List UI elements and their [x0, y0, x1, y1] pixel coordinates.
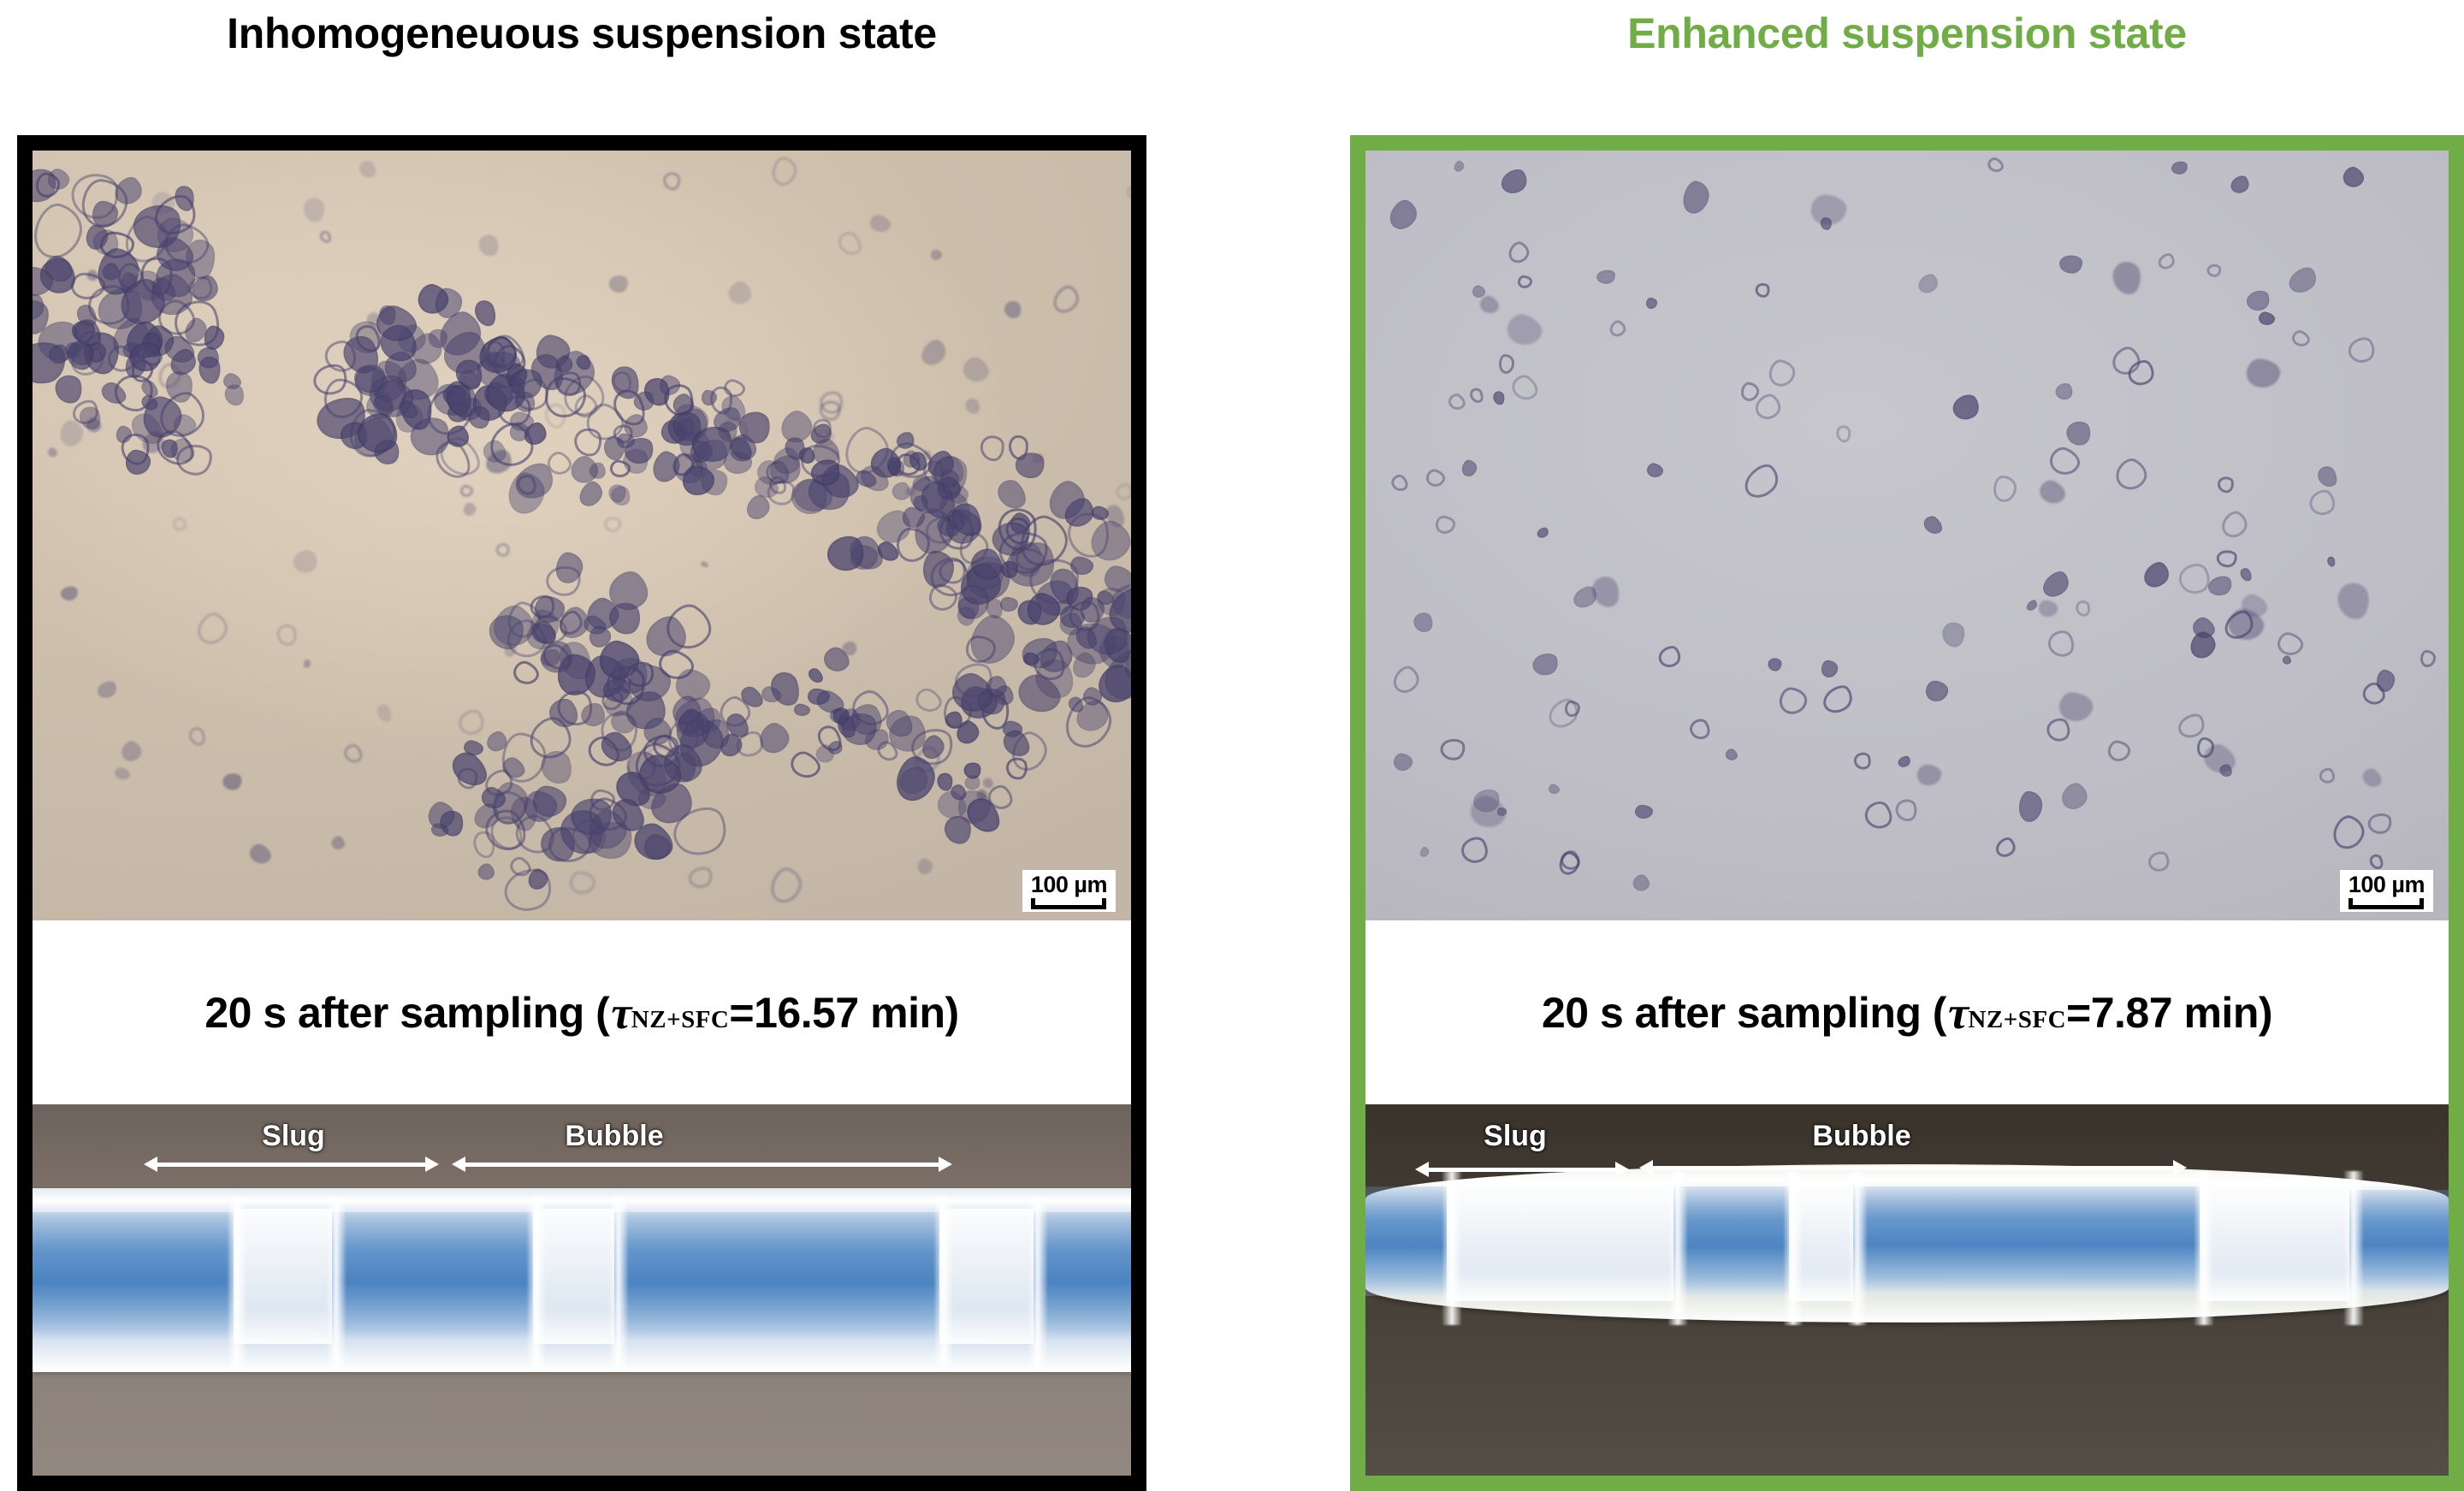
- crystal-particle: [930, 249, 943, 261]
- crystal-particle: [2073, 599, 2091, 618]
- crystal-particle: [2217, 550, 2238, 568]
- crystal-particle: [2359, 766, 2384, 791]
- crystal-particle: [2275, 630, 2306, 659]
- crystal-particle: [1410, 609, 1436, 636]
- crystal-particle: [1467, 386, 1486, 405]
- crystal-particle: [993, 475, 1032, 514]
- crystal-particle: [2238, 566, 2254, 583]
- crystal-particle: [2228, 173, 2253, 197]
- crystal-particle: [685, 864, 715, 892]
- crystal-particle: [2314, 463, 2341, 490]
- crystal-particle: [2046, 443, 2084, 478]
- crystal-particle: [1948, 391, 1984, 426]
- crystal-particle: [1635, 805, 1654, 819]
- crystal-particle: [2289, 328, 2313, 350]
- meniscus: [527, 1197, 546, 1368]
- crystal-particle: [1607, 318, 1628, 340]
- crystal-particle: [912, 684, 946, 716]
- crystal-particle: [1049, 281, 1084, 317]
- crystal-particle: [1679, 179, 1711, 216]
- crystal-particle: [1460, 459, 1478, 478]
- meniscus: [1848, 1171, 1867, 1325]
- crystal-particle: [1003, 299, 1023, 321]
- crystal-particle: [917, 336, 951, 370]
- crystal-particle: [275, 623, 299, 647]
- crystal-particle: [2171, 160, 2189, 176]
- crystal-particle: [375, 703, 394, 725]
- crystal-particle: [2111, 454, 2152, 495]
- crystal-particle: [457, 767, 479, 790]
- figure-root: Inhomogeneuous suspension state Enhanced…: [0, 0, 2464, 1491]
- bubble-label-enhanced: Bubble: [1812, 1120, 1910, 1153]
- liquid-slug-segment: [1034, 1212, 1131, 1340]
- crystal-particle: [1818, 680, 1857, 719]
- tau-symbol: τ: [609, 986, 631, 1039]
- crystal-particle: [767, 864, 806, 907]
- crystal-particle: [2156, 251, 2178, 273]
- scale-bar-rule: [1031, 898, 1106, 909]
- crystal-particle: [1739, 459, 1786, 505]
- crystal-particle: [603, 517, 621, 533]
- slug-label-enhanced: Slug: [1484, 1120, 1547, 1153]
- crystal-particle: [222, 772, 243, 792]
- scale-bar-label: 100 µm: [2348, 873, 2425, 896]
- meniscus: [1028, 1197, 1047, 1368]
- crystal-particle: [700, 560, 709, 569]
- capillary-enhanced: [1365, 1164, 2449, 1322]
- crystal-particle: [2140, 558, 2174, 592]
- crystal-particle: [329, 834, 347, 852]
- crystal-particle: [2112, 260, 2144, 296]
- crystal-particle: [247, 841, 275, 867]
- crystal-particle: [341, 741, 365, 766]
- scale-bar-label: 100 µm: [1031, 873, 1107, 896]
- bubble-extent-arrow-inhomogeneous: [452, 1161, 952, 1168]
- liquid-slug-segment: [2349, 1190, 2449, 1291]
- crystal-particle: [1497, 165, 1531, 198]
- crystal-particle: [1917, 764, 1941, 784]
- crystal-particle: [1588, 573, 1623, 611]
- crystal-particle: [2344, 333, 2380, 368]
- crystal-particle: [459, 484, 474, 498]
- crystal-particle: [290, 547, 321, 577]
- crystal-particle: [304, 198, 325, 222]
- liquid-slug-segment: [1853, 1186, 2200, 1293]
- crystal-particle: [1768, 358, 1798, 389]
- caption-inhomogeneous: 20 s after sampling (τNZ+SFC = 16.57 min…: [33, 920, 1131, 1104]
- crystal-particle: [2367, 852, 2385, 871]
- crystal-particle: [1518, 275, 1533, 289]
- panel-inhomogeneous: 100 µm 20 s after sampling (τNZ+SFC = 16…: [17, 135, 1146, 1491]
- scale-bar-rule: [2348, 898, 2424, 909]
- liquid-slug-segment: [33, 1212, 234, 1340]
- crystal-particle: [1645, 297, 1657, 309]
- gas-bubble-segment: [2200, 1181, 2349, 1301]
- liquid-slug-segment: [1365, 1186, 1447, 1296]
- crystal-particle: [1113, 480, 1131, 503]
- liquid-slug-segment: [614, 1212, 939, 1340]
- crystal-particle: [793, 702, 811, 716]
- crystal-particle: [1389, 662, 1424, 698]
- crystal-particle: [2218, 507, 2252, 542]
- crystal-particle: [2326, 556, 2336, 567]
- crystal-particle: [2258, 311, 2277, 327]
- crystal-particle: [2052, 381, 2076, 404]
- crystal-particle: [1418, 845, 1430, 858]
- crystal-particle: [1124, 183, 1131, 203]
- crystal-particle: [776, 406, 817, 448]
- meniscus: [934, 1197, 953, 1368]
- crystal-particle: [806, 666, 826, 686]
- crystal-particle: [756, 719, 795, 758]
- crystal-particle: [119, 738, 144, 764]
- crystal-particle: [1596, 269, 1616, 287]
- crystal-particle: [543, 402, 566, 429]
- panel-title-enhanced: Enhanced suspension state: [1350, 0, 2464, 142]
- caption-unit: min: [870, 988, 945, 1038]
- crystal-particle: [1821, 660, 1839, 677]
- tube-photo-inhomogeneous: Slug Bubble: [33, 1104, 1131, 1476]
- crystal-particle: [1457, 832, 1493, 868]
- crystal-particle: [170, 515, 188, 533]
- crystal-particle: [1446, 390, 1468, 412]
- crystal-particle: [2017, 790, 2042, 823]
- capillary-inhomogeneous: [33, 1188, 1131, 1372]
- caption-equals: =: [2066, 988, 2091, 1038]
- crystal-particle: [1755, 281, 1772, 299]
- crystal-particle: [1925, 679, 1949, 701]
- crystal-particle: [476, 232, 501, 258]
- crystal-particle: [187, 725, 207, 748]
- crystal-particle: [1993, 475, 2018, 502]
- crystal-particle: [1393, 752, 1413, 772]
- crystal-particle: [2305, 485, 2341, 521]
- crystal-particle: [1531, 650, 1561, 678]
- caption-value: 16.57: [754, 988, 859, 1038]
- crystal-particle: [2206, 573, 2235, 599]
- crystal-particle: [510, 658, 542, 689]
- crystal-particle: [2340, 164, 2366, 191]
- tau-symbol: τ: [1946, 986, 1968, 1039]
- crystal-particle: [1916, 270, 1942, 297]
- crystal-particle: [2206, 264, 2223, 279]
- crystal-particle: [2216, 476, 2234, 494]
- crystal-particle: [1506, 239, 1533, 267]
- crystal-particle: [95, 678, 120, 701]
- crystal-particle: [868, 213, 892, 234]
- crystal-particle: [2330, 813, 2369, 855]
- crystal-particle: [570, 872, 596, 896]
- caption-value: 7.87: [2091, 988, 2172, 1038]
- scale-bar-enhanced: 100 µm: [2340, 870, 2433, 912]
- crystal-particle: [2039, 567, 2074, 602]
- crystal-particle: [475, 861, 498, 884]
- crystal-particle: [303, 660, 311, 669]
- crystal-particle: [1385, 196, 1421, 234]
- crystal-particle: [2375, 669, 2396, 693]
- crystal-particle: [834, 228, 866, 260]
- slug-extent-arrow-inhomogeneous: [144, 1161, 439, 1168]
- crystal-particle: [959, 353, 992, 386]
- scale-bar-inhomogeneous: 100 µm: [1022, 870, 1116, 912]
- meniscus: [1668, 1171, 1687, 1325]
- bubble-label-inhomogeneous: Bubble: [565, 1120, 663, 1153]
- gas-bubble-segment: [939, 1209, 1034, 1344]
- crystal-particle: [1836, 425, 1852, 444]
- crystal-particle: [1389, 472, 1412, 495]
- crystal-particle: [1645, 461, 1665, 479]
- panel-enhanced: 100 µm 20 s after sampling (τNZ+SFC = 7.…: [1350, 135, 2464, 1491]
- liquid-slug-segment: [332, 1212, 533, 1340]
- caption-unit: min: [2183, 988, 2258, 1038]
- crystal-particle: [2025, 598, 2040, 612]
- crystal-particle: [1724, 747, 1740, 763]
- meniscus: [2344, 1171, 2363, 1325]
- crystal-particle: [495, 541, 512, 559]
- crystal-particle: [2336, 581, 2372, 621]
- crystal-particle: [917, 858, 933, 875]
- caption-prefix: 20 s after sampling (: [1542, 988, 1946, 1038]
- crystal-particle: [453, 706, 489, 741]
- crystal-particle: [1507, 371, 1543, 405]
- crystal-particle: [1920, 513, 1945, 538]
- crystal-particle: [1655, 642, 1685, 671]
- crystal-particle: [2281, 654, 2293, 666]
- micrograph-inhomogeneous: 100 µm: [33, 151, 1131, 920]
- crystal-particle: [2174, 559, 2215, 599]
- crystal-particle: [1811, 194, 1847, 225]
- crystal-particle: [357, 158, 379, 180]
- crystal-particle: [725, 277, 756, 309]
- crystal-particle: [771, 156, 800, 188]
- crystal-particle: [1896, 754, 1912, 770]
- crystal-particle: [2036, 477, 2069, 508]
- crystal-particle: [2038, 599, 2059, 618]
- crystal-particle: [2316, 765, 2337, 786]
- crystal-particle: [2059, 255, 2082, 274]
- crystal-particle: [462, 501, 477, 518]
- caption-enhanced: 20 s after sampling (τNZ+SFC = 7.87 min): [1365, 920, 2449, 1104]
- crystal-particle: [1504, 311, 1545, 349]
- crystal-particle: [1631, 872, 1654, 895]
- crystal-particle: [607, 274, 629, 293]
- meniscus: [609, 1197, 628, 1368]
- crystal-particle: [1942, 622, 1965, 648]
- crystal-particle: [46, 447, 59, 459]
- crystal-particle: [1852, 750, 1875, 772]
- tube-photo-enhanced: Slug Bubble: [1365, 1104, 2449, 1476]
- gas-bubble-segment: [234, 1209, 332, 1344]
- crystal-particle: [2420, 650, 2437, 668]
- crystal-particle: [2285, 263, 2321, 298]
- crystal-particle: [1435, 516, 1455, 534]
- crystal-particle: [1499, 353, 1515, 373]
- crystal-particle: [1860, 796, 1898, 834]
- crystal-particle: [1986, 156, 2007, 176]
- caption-prefix: 20 s after sampling (: [204, 988, 609, 1038]
- meniscus: [327, 1197, 346, 1368]
- crystal-particle: [2106, 739, 2131, 762]
- meniscus: [228, 1197, 246, 1368]
- caption-suffix: ): [945, 988, 959, 1038]
- crystal-particle: [1993, 834, 2020, 861]
- meniscus: [2194, 1171, 2213, 1325]
- meniscus: [1784, 1171, 1803, 1325]
- crystal-particle: [113, 766, 131, 782]
- meniscus: [1442, 1171, 1461, 1325]
- crystal-particle: [317, 229, 333, 246]
- gas-bubble-segment: [1447, 1181, 1673, 1301]
- crystal-particle: [2057, 779, 2092, 814]
- crystal-particle: [1685, 715, 1713, 743]
- crystal-particle: [1892, 796, 1920, 825]
- tau-subscript: NZ+SFC: [631, 1006, 730, 1034]
- crystal-particle: [1492, 390, 1506, 406]
- caption-equals: =: [729, 988, 754, 1038]
- crystal-particle: [1440, 737, 1467, 761]
- crystal-particle: [2246, 358, 2281, 388]
- tau-subscript: NZ+SFC: [1968, 1006, 2066, 1034]
- caption-suffix: ): [2259, 988, 2272, 1038]
- crystal-particle: [548, 826, 590, 862]
- panel-title-inhomogeneous: Inhomogeneuous suspension state: [17, 0, 1146, 142]
- crystal-particle: [2243, 287, 2271, 314]
- crystal-particle: [963, 397, 982, 417]
- crystal-particle: [662, 172, 681, 192]
- crystal-particle: [1778, 686, 1809, 716]
- crystal-particle: [1536, 526, 1551, 541]
- crystal-particle: [1424, 467, 1448, 489]
- crystal-particle: [1768, 658, 1781, 671]
- crystal-particle: [2366, 811, 2394, 836]
- crystal-particle: [2064, 418, 2094, 447]
- crystal-particle: [1548, 783, 1561, 796]
- micrograph-enhanced: 100 µm: [1365, 151, 2449, 920]
- crystal-particle: [192, 608, 234, 650]
- crystal-particle: [2145, 849, 2173, 876]
- crystal-particle: [59, 584, 80, 602]
- crystal-particle: [980, 435, 1005, 462]
- liquid-slug-segment: [1673, 1186, 1789, 1296]
- slug-label-inhomogeneous: Slug: [262, 1120, 325, 1153]
- crystal-particle: [2044, 626, 2080, 662]
- crystal-particle: [1452, 159, 1465, 173]
